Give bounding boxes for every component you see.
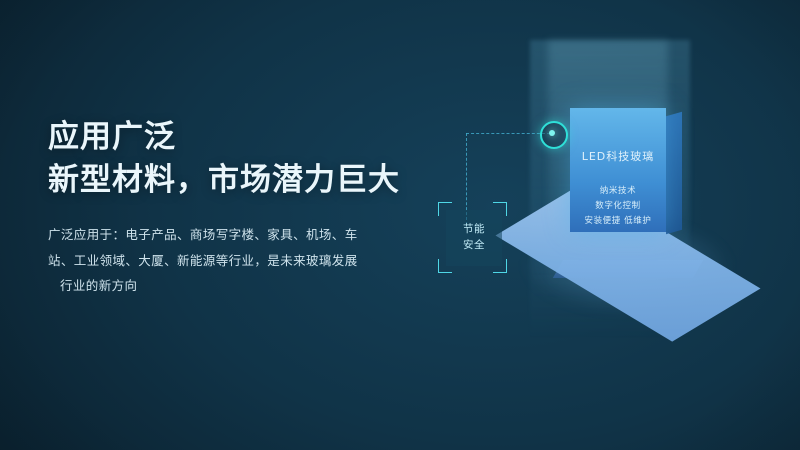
panel-feature-2: 数字化控制 <box>570 199 666 214</box>
panel-title: LED科技玻璃 <box>570 148 666 164</box>
illustration: LED科技玻璃 纳米技术 数字化控制 安装便捷 低维护 节能 安全 <box>430 0 800 450</box>
panel-feature-3: 安装便捷 低维护 <box>570 214 666 229</box>
feature-tag-line-1: 节能 <box>463 222 485 238</box>
slide-canvas: 应用广泛 新型材料，市场潜力巨大 广泛应用于：电子产品、商场写字楼、家具、机场、… <box>0 0 800 450</box>
headline-line-1: 应用广泛 <box>48 119 176 155</box>
glass-panel-edge <box>666 112 682 235</box>
page-title: 应用广泛 新型材料，市场潜力巨大 <box>48 116 478 202</box>
body-line-2: 站、工业领域、大厦、新能源等行业，是未来玻璃发展 <box>48 248 378 274</box>
body-line-3: 行业的新方向 <box>48 273 378 299</box>
feature-tag-line-2: 安全 <box>463 238 485 254</box>
panel-feature-list: 纳米技术 数字化控制 安装便捷 低维护 <box>570 184 666 229</box>
node-dot-icon <box>540 121 568 149</box>
body-line-1: 广泛应用于：电子产品、商场写字楼、家具、机场、车 <box>48 222 378 248</box>
headline-line-2: 新型材料，市场潜力巨大 <box>48 159 478 202</box>
panel-feature-1: 纳米技术 <box>570 184 666 199</box>
glass-panel: LED科技玻璃 纳米技术 数字化控制 安装便捷 低维护 <box>570 108 666 232</box>
feature-tag: 节能 安全 <box>446 210 502 266</box>
body-paragraph: 广泛应用于：电子产品、商场写字楼、家具、机场、车 站、工业领域、大厦、新能源等行… <box>48 222 378 299</box>
connector-line-horizontal <box>466 133 550 134</box>
